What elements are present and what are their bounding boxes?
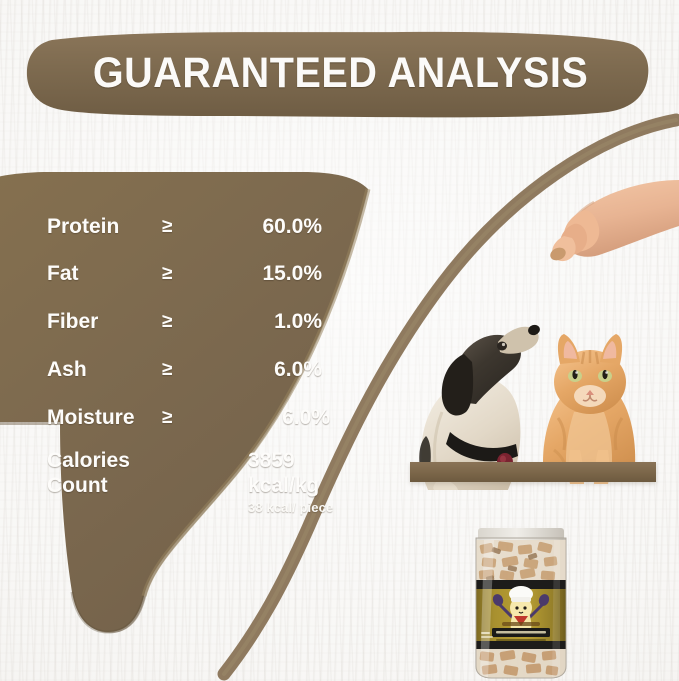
nutrient-label: Fiber	[47, 310, 98, 334]
calories-label-line1: Calories	[47, 449, 130, 474]
product-jar	[462, 524, 580, 681]
brand-script	[502, 622, 540, 626]
calories-label-line2: Count	[47, 474, 130, 499]
calories-count-label: Calories Count	[47, 449, 130, 499]
nutrient-amount: 1.0%	[200, 310, 322, 334]
calories-value-line2: kcal/kg	[248, 474, 319, 499]
page-title: GUARANTEED ANALYSIS	[47, 26, 625, 120]
nutrient-operator: ≥	[162, 407, 172, 429]
calories-value-line1: 3859	[248, 449, 319, 474]
nutrient-label: Fat	[47, 262, 79, 286]
header-banner: GUARANTEED ANALYSIS	[22, 26, 650, 120]
nutrient-label: Ash	[47, 358, 87, 382]
nutrient-label: Protein	[47, 215, 119, 239]
pets-shelf	[410, 462, 656, 482]
calories-count-value: 3859 kcal/kg	[248, 449, 319, 499]
nutrient-operator: ≥	[162, 359, 172, 381]
nutrient-operator: ≥	[162, 216, 172, 238]
nutrient-amount: 60.0%	[200, 215, 322, 239]
hand-with-treat	[548, 180, 679, 263]
nutrient-operator: ≥	[162, 311, 172, 333]
pets-photo	[398, 150, 679, 550]
product-jar-illustration	[462, 524, 580, 681]
guaranteed-analysis-infographic: GUARANTEED ANALYSIS	[0, 0, 679, 681]
nutrient-amount: 6.0%	[200, 358, 322, 382]
pets-photo-illustration	[398, 150, 679, 550]
calories-per-piece-note: 38 kcal/ piece	[248, 500, 333, 515]
nutrient-label: Moisture	[47, 406, 135, 430]
nutrient-amount: 15.0%	[200, 262, 322, 286]
nutrient-operator: ≥	[162, 263, 172, 285]
nutrient-amount: 6.0%	[200, 406, 330, 430]
